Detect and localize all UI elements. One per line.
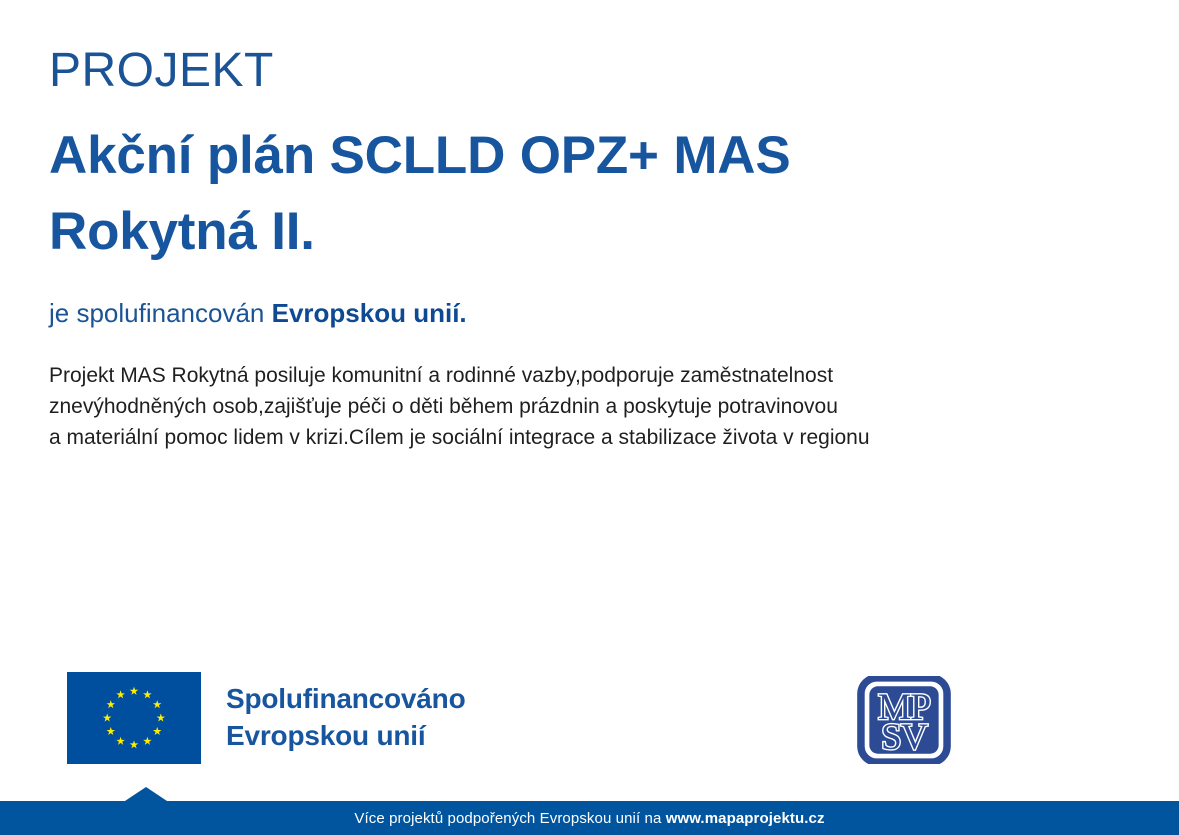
project-description-line-1: Projekt MAS Rokytná posiluje komunitní a… bbox=[49, 361, 1079, 392]
page-title: Akční plán SCLLD OPZ+ MAS Rokytná II. bbox=[49, 118, 949, 269]
eyebrow-label: PROJEKT bbox=[49, 46, 1119, 96]
project-description-line-2: znevýhodněných osob,zajišťuje péči o dět… bbox=[49, 392, 1079, 423]
poster-content: PROJEKT Akční plán SCLLD OPZ+ MAS Rokytn… bbox=[49, 46, 1119, 454]
footer-lead: Více projektů podpořených Evropskou unií… bbox=[354, 810, 665, 827]
footer-url[interactable]: www.mapaprojektu.cz bbox=[666, 810, 825, 827]
funding-statement: je spolufinancován Evropskou unií. bbox=[49, 298, 1119, 329]
eu-funding-caption: Spolufinancováno Evropskou unií bbox=[226, 681, 465, 755]
eu-flag-icon bbox=[67, 672, 201, 764]
project-description-line-3: a materiální pomoc lidem v krizi.Cílem j… bbox=[49, 423, 1079, 454]
footer-text: Více projektů podpořených Evropskou unií… bbox=[354, 810, 824, 827]
funding-statement-emphasis: Evropskou unií. bbox=[272, 298, 467, 328]
eu-caption-line-2: Evropskou unií bbox=[226, 718, 465, 755]
mpsv-logo-icon: MP SV bbox=[857, 676, 951, 764]
footer-bar: Více projektů podpořených Evropskou unií… bbox=[0, 801, 1179, 835]
eu-caption-line-1: Spolufinancováno bbox=[226, 681, 465, 718]
footer-notch-triangle bbox=[125, 787, 167, 801]
logo-row: Spolufinancováno Evropskou unií MP SV bbox=[0, 660, 1179, 780]
svg-text:SV: SV bbox=[881, 717, 928, 758]
eu-funding-lockup: Spolufinancováno Evropskou unií bbox=[67, 672, 465, 764]
project-description: Projekt MAS Rokytná posiluje komunitní a… bbox=[49, 361, 1079, 454]
funding-statement-lead: je spolufinancován bbox=[49, 298, 272, 328]
poster-canvas: PROJEKT Akční plán SCLLD OPZ+ MAS Rokytn… bbox=[0, 0, 1179, 835]
